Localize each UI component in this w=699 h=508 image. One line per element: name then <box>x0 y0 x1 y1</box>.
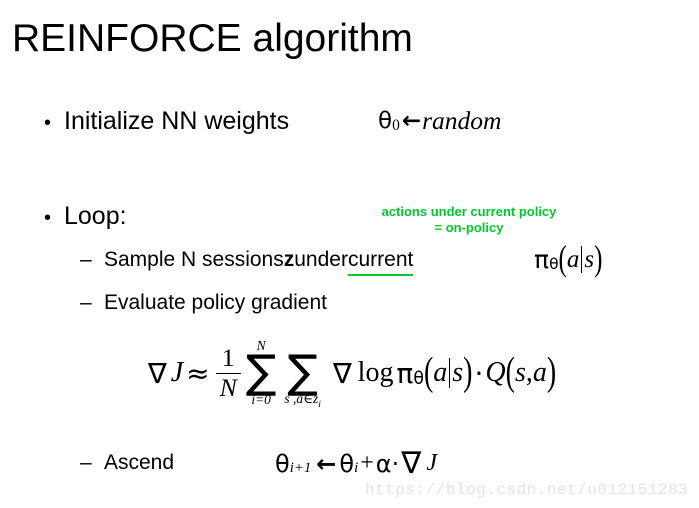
fraction-denominator: N <box>216 373 241 401</box>
sigma-symbol: ∑ <box>287 351 318 393</box>
multiplication-dot: · <box>475 357 484 390</box>
sigma-symbol: ∑ <box>246 351 277 393</box>
annotation-line-2: = on-policy <box>353 220 585 236</box>
theta-subscript-zero: 0 <box>392 117 400 135</box>
summation-over-state-actions: ∑ s ,a∈zi <box>284 340 321 406</box>
nabla-symbol: ∇ <box>401 446 421 481</box>
equation-policy-pi: πθ(as) <box>534 245 602 274</box>
subbullet-evaluate-gradient: – Evaluate policy gradient <box>80 290 327 316</box>
equation-gradient-ascend: θi+1←θi+α·∇J <box>275 446 437 481</box>
sum2-lower-subscript: i <box>318 399 321 410</box>
bullet-loop: • Loop: <box>44 201 127 233</box>
open-paren: ( <box>424 350 433 396</box>
open-paren: ( <box>559 239 567 280</box>
bullet-marker-dot: • <box>44 108 64 138</box>
log-operator: log <box>358 357 394 389</box>
comma: , <box>526 357 533 389</box>
objective-J: J <box>426 450 437 477</box>
summation-over-sessions: N ∑ i=0 <box>246 340 277 406</box>
subbullet-sample-sessions: – Sample N sessions z under current <box>80 247 413 276</box>
equation-policy-gradient: ∇J≈ 1 N N ∑ i=0 ∑ s ,a∈zi ∇ log πθ(as)·Q… <box>148 340 556 406</box>
sum-lower-limit: i=0 <box>251 393 271 406</box>
bullet-marker-dot: • <box>44 203 64 233</box>
session-variable-z: z <box>284 247 295 273</box>
close-paren: ) <box>594 239 602 280</box>
close-paren: ) <box>463 350 472 396</box>
left-arrow-icon: ← <box>402 108 421 134</box>
pi-symbol: π <box>396 357 413 390</box>
conditional-bar <box>449 358 450 387</box>
open-paren: ( <box>506 350 515 396</box>
slide-canvas: REINFORCE algorithm • Initialize NN weig… <box>0 0 699 508</box>
pi-subscript-theta: θ <box>549 255 558 273</box>
fraction-one-over-N: 1 N <box>216 345 241 401</box>
subbullet-text-after: under <box>294 247 348 273</box>
state-variable: s <box>584 246 594 274</box>
q-arg-action: a <box>533 357 547 389</box>
objective-J: J <box>171 357 183 389</box>
action-variable: a <box>567 246 580 274</box>
nabla-symbol: ∇ <box>333 357 352 390</box>
left-arrow-icon: ← <box>316 450 336 478</box>
multiplication-dot: · <box>392 450 400 478</box>
q-function: Q <box>485 357 505 389</box>
approx-symbol: ≈ <box>186 357 209 390</box>
alpha-symbol: α <box>376 450 392 478</box>
action-variable: a <box>433 357 447 389</box>
subbullet-label-evaluate-gradient: Evaluate policy gradient <box>104 290 327 316</box>
bullet-marker-dash: – <box>80 450 104 476</box>
page-title: REINFORCE algorithm <box>12 17 413 61</box>
bullet-marker-dash: – <box>80 247 104 273</box>
theta-subscript-i-plus-1: i+1 <box>290 460 312 477</box>
q-arg-state: s <box>515 357 526 389</box>
bullet-marker-dash: – <box>80 290 104 316</box>
state-variable: s <box>452 357 463 389</box>
theta-symbol: θ <box>275 450 290 478</box>
bullet-initialize-weights: • Initialize NN weights <box>44 106 289 138</box>
theta-symbol: θ <box>378 108 392 134</box>
theta-symbol: θ <box>339 450 354 478</box>
bullet-label-loop: Loop: <box>64 201 127 231</box>
theta-subscript-i: i <box>354 460 358 477</box>
conditional-bar <box>581 246 582 272</box>
sum2-lower-prefix: s ,a∈z <box>284 391 318 406</box>
annotation-on-policy: actions under current policy = on-policy <box>353 204 585 236</box>
sum2-lower-limit: s ,a∈zi <box>284 392 321 406</box>
annotation-line-1: actions under current policy <box>353 204 585 220</box>
subbullet-text-before: Sample N sessions <box>104 247 284 273</box>
equation-initialize-theta: θ0←random <box>378 106 501 136</box>
nabla-symbol: ∇ <box>148 357 167 390</box>
close-paren: ) <box>547 350 556 396</box>
plus-symbol: + <box>360 450 374 477</box>
bullet-label-initialize-weights: Initialize NN weights <box>64 106 289 136</box>
pi-subscript-theta: θ <box>413 369 424 389</box>
subbullet-ascend: – Ascend <box>80 450 174 476</box>
pi-symbol: π <box>534 245 549 274</box>
watermark-url: https://blog.csdn.net/u012151283 <box>365 481 688 499</box>
fraction-numerator: 1 <box>218 345 239 372</box>
random-word: random <box>422 106 501 136</box>
underlined-current: current <box>348 247 413 276</box>
subbullet-label-ascend: Ascend <box>104 450 174 476</box>
